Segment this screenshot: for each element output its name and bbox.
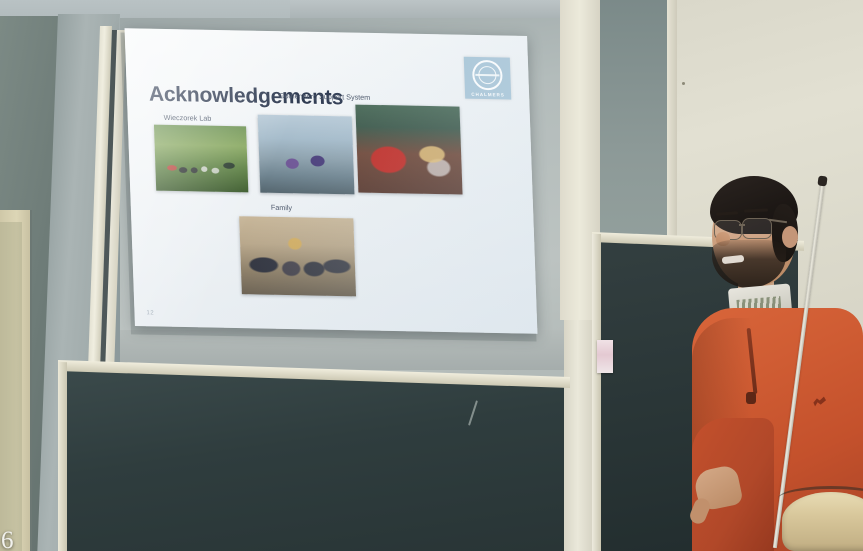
photo-label-wieczorek-lab: Wieczorek Lab: [164, 113, 212, 123]
photo-label-family: Family: [271, 203, 293, 212]
pinned-paper-note[interactable]: [597, 340, 613, 373]
left-door-inner: [0, 222, 22, 551]
slide-page-number: 12: [146, 310, 154, 316]
presentation-slide: Acknowledgements CHALMERS Wieczorek Lab …: [125, 28, 538, 334]
main-chalkboard: [62, 368, 564, 551]
right-chalkboard-left-rail: [592, 234, 601, 551]
glasses-lens-right: [742, 218, 772, 239]
panel-screw: [682, 82, 685, 85]
wooden-stool[interactable]: [782, 492, 863, 551]
main-chalkboard-left-rail: [58, 362, 67, 551]
glasses-bridge: [739, 224, 745, 226]
lecture-hall-photo: Acknowledgements CHALMERS Wieczorek Lab …: [0, 0, 863, 551]
university-wordmark: CHALMERS: [471, 91, 505, 97]
chalmers-university-logo: CHALMERS: [464, 57, 512, 100]
bar-restaurant-photo: [355, 105, 462, 195]
family-formal-portrait-photo: [239, 216, 356, 296]
corner-watermark-number: 6: [1, 527, 14, 551]
university-crest-icon: [472, 59, 503, 90]
lab-group-forest-photo: [154, 125, 248, 193]
harbor-marina-photo: [258, 115, 355, 195]
pointer-stick-tip: [817, 175, 827, 186]
sweater-zipper-pull: [746, 392, 756, 404]
photo-label-gothenburg-support-system: Gothenburg Support System: [279, 91, 371, 102]
presenter-ear: [782, 226, 798, 248]
right-wall-grey-panel: [600, 0, 672, 262]
projection-screen: Acknowledgements CHALMERS Wieczorek Lab …: [125, 28, 538, 334]
right-panel-frame: [667, 0, 677, 275]
